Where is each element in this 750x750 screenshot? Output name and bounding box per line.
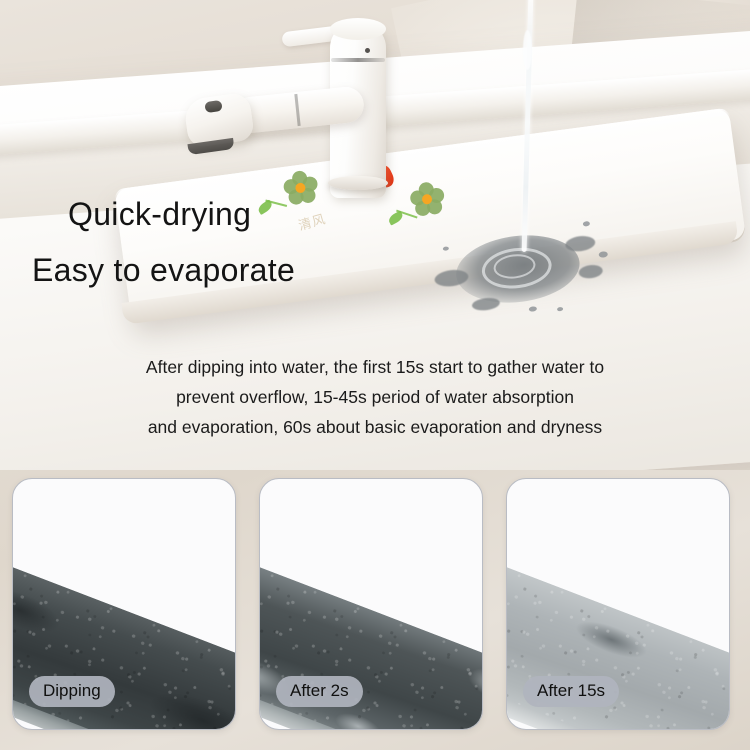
mat-flower-left — [281, 169, 319, 207]
drying-stage-panels: Dipping After 2s After 15s — [0, 470, 750, 750]
stage-caption-dipping: Dipping — [29, 676, 115, 707]
faucet-seam-ring — [331, 58, 385, 62]
stage-panel-after-2s: After 2s — [259, 478, 483, 730]
faucet-indicator-dot — [365, 48, 370, 53]
mat-flower-right — [408, 180, 446, 218]
mat-calligraphy: 清风 — [296, 208, 328, 234]
faucet-base — [328, 176, 388, 190]
stage-caption-after-2s: After 2s — [276, 676, 363, 707]
description-line-3: and evaporation, 60s about basic evapora… — [0, 412, 750, 442]
stage-panel-dipping: Dipping — [12, 478, 236, 730]
headline-primary: Quick-drying — [68, 196, 251, 233]
headline-secondary: Easy to evaporate — [32, 252, 295, 289]
stage-caption-after-15s: After 15s — [523, 676, 619, 707]
water-stream-bulge — [523, 30, 532, 70]
faucet-cap — [330, 18, 386, 40]
description-line-1: After dipping into water, the first 15s … — [0, 352, 750, 382]
stage-panel-after-15s: After 15s — [506, 478, 730, 730]
product-marketing-image: 清风 — [0, 0, 750, 750]
description-paragraph: After dipping into water, the first 15s … — [0, 352, 750, 442]
mat-leaf-right — [387, 211, 404, 226]
product-scene: 清风 — [0, 0, 750, 470]
description-line-2: prevent overflow, 15-45s period of water… — [0, 382, 750, 412]
